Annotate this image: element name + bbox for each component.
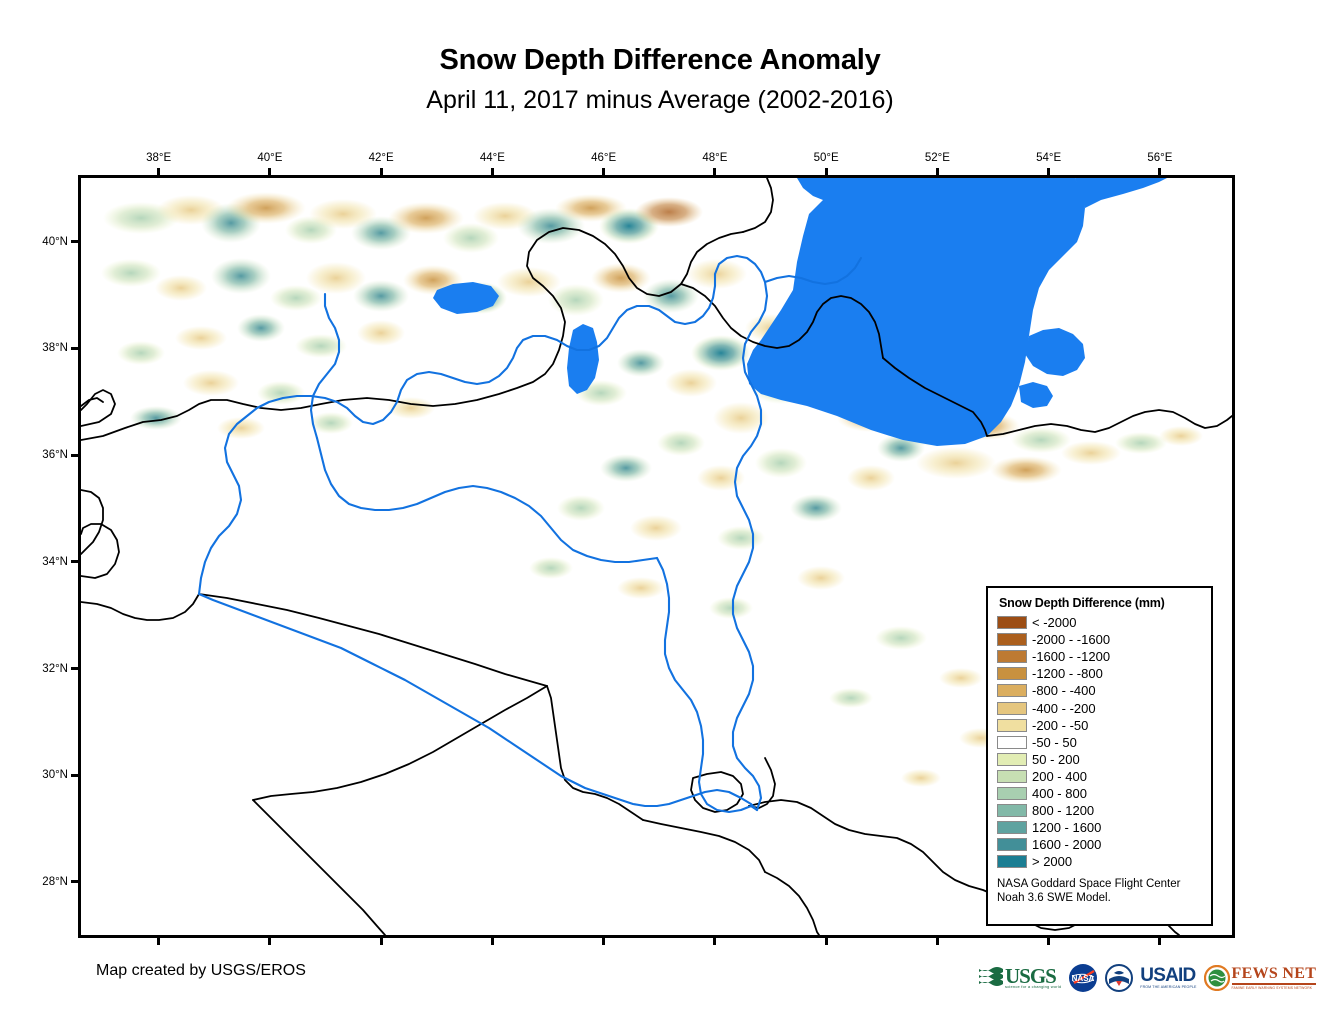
legend-swatch xyxy=(997,650,1027,663)
legend-swatch xyxy=(997,838,1027,851)
legend-swatch xyxy=(997,736,1027,749)
legend-row[interactable]: -1600 - -1200 xyxy=(997,648,1202,665)
legend-label: < -2000 xyxy=(1032,616,1076,629)
legend-swatch xyxy=(997,855,1027,868)
legend-swatch xyxy=(997,821,1027,834)
legend-row[interactable]: -400 - -200 xyxy=(997,699,1202,716)
legend-label: -2000 - -1600 xyxy=(1032,633,1110,646)
legend-label: > 2000 xyxy=(1032,855,1072,868)
legend-label: 800 - 1200 xyxy=(1032,804,1094,817)
legend-label: 400 - 800 xyxy=(1032,787,1087,800)
lon-tick-mark xyxy=(1047,168,1050,175)
lon-tick-mark xyxy=(825,168,828,175)
lon-tick-mark xyxy=(602,938,605,945)
lon-tick-mark xyxy=(1158,938,1161,945)
lon-tick-mark xyxy=(602,168,605,175)
legend-label: -800 - -400 xyxy=(1032,684,1096,697)
legend-row[interactable]: > 2000 xyxy=(997,853,1202,870)
fewsnet-tagline: FAMINE EARLY WARNING SYSTEMS NETWORK xyxy=(1232,986,1317,990)
usaid-wordmark: USAID xyxy=(1140,967,1196,985)
noaa-seal-icon xyxy=(1105,964,1133,992)
lat-tick-mark xyxy=(71,667,78,670)
lon-tick-label: 56°E xyxy=(1147,152,1172,164)
lon-tick-label: 42°E xyxy=(369,152,394,164)
legend-row[interactable]: 200 - 400 xyxy=(997,768,1202,785)
lon-tick-label: 48°E xyxy=(702,152,727,164)
legend-label: -50 - 50 xyxy=(1032,736,1077,749)
lat-tick-mark xyxy=(71,880,78,883)
usaid-logo[interactable]: USAID FROM THE AMERICAN PEOPLE xyxy=(1140,961,1196,995)
legend-source-line: Noah 3.6 SWE Model. xyxy=(997,891,1202,905)
lon-tick-label: 38°E xyxy=(146,152,171,164)
lat-tick-label: 30°N xyxy=(30,769,68,781)
legend-label: 1200 - 1600 xyxy=(1032,821,1101,834)
lon-tick-mark xyxy=(1047,938,1050,945)
lon-tick-mark xyxy=(380,938,383,945)
lon-tick-mark xyxy=(380,168,383,175)
lat-tick-label: 34°N xyxy=(30,556,68,568)
legend-row[interactable]: 1600 - 2000 xyxy=(997,836,1202,853)
lon-tick-mark xyxy=(491,168,494,175)
logo-strip: USGS science for a changing world NASA xyxy=(978,958,1316,998)
nasa-logo[interactable]: NASA xyxy=(1068,961,1098,995)
legend-swatch xyxy=(997,702,1027,715)
page-subtitle: April 11, 2017 minus Average (2002-2016) xyxy=(0,86,1320,115)
legend-swatch xyxy=(997,719,1027,732)
usgs-tagline: science for a changing world xyxy=(1005,985,1061,989)
lat-tick-label: 36°N xyxy=(30,449,68,461)
legend-class-list: < -2000-2000 - -1600-1600 - -1200-1200 -… xyxy=(997,614,1202,870)
legend-row[interactable]: 800 - 1200 xyxy=(997,802,1202,819)
legend-swatch xyxy=(997,684,1027,697)
legend-row[interactable]: -800 - -400 xyxy=(997,682,1202,699)
legend-label: -400 - -200 xyxy=(1032,702,1096,715)
legend-swatch xyxy=(997,787,1027,800)
fewsnet-globe-icon xyxy=(1204,965,1230,991)
lon-tick-mark xyxy=(268,168,271,175)
legend-label: 50 - 200 xyxy=(1032,753,1080,766)
usgs-wordmark: USGS xyxy=(1005,967,1061,986)
lat-tick-label: 38°N xyxy=(30,342,68,354)
legend-swatch xyxy=(997,770,1027,783)
legend-label: -200 - -50 xyxy=(1032,719,1088,732)
usaid-tagline: FROM THE AMERICAN PEOPLE xyxy=(1140,985,1196,989)
legend-label: -1600 - -1200 xyxy=(1032,650,1110,663)
lon-tick-label: 44°E xyxy=(480,152,505,164)
legend-row[interactable]: -200 - -50 xyxy=(997,717,1202,734)
noaa-logo[interactable] xyxy=(1105,961,1133,995)
lat-tick-label: 32°N xyxy=(30,663,68,675)
legend-label: 1600 - 2000 xyxy=(1032,838,1101,851)
usgs-wave-icon xyxy=(978,965,1004,991)
legend-swatch xyxy=(997,804,1027,817)
lon-tick-mark xyxy=(936,168,939,175)
lon-tick-label: 54°E xyxy=(1036,152,1061,164)
legend-source-note: NASA Goddard Space Flight CenterNoah 3.6… xyxy=(997,877,1202,905)
legend-label: 200 - 400 xyxy=(1032,770,1087,783)
legend-swatch xyxy=(997,616,1027,629)
legend-row[interactable]: < -2000 xyxy=(997,614,1202,631)
lon-tick-mark xyxy=(1158,168,1161,175)
page-title: Snow Depth Difference Anomaly xyxy=(0,44,1320,77)
lat-tick-mark xyxy=(71,774,78,777)
legend-label: -1200 - -800 xyxy=(1032,667,1103,680)
lat-tick-label: 40°N xyxy=(30,236,68,248)
lon-tick-mark xyxy=(713,168,716,175)
lon-tick-label: 46°E xyxy=(591,152,616,164)
legend-row[interactable]: -1200 - -800 xyxy=(997,665,1202,682)
fewsnet-wordmark: FEWS NET xyxy=(1232,966,1317,982)
fewsnet-rule xyxy=(1232,983,1317,984)
lon-tick-mark xyxy=(491,938,494,945)
legend-title: Snow Depth Difference (mm) xyxy=(999,596,1202,610)
footer-credit: Map created by USGS/EROS xyxy=(96,962,306,980)
legend-swatch xyxy=(997,667,1027,680)
nasa-meatball-icon: NASA xyxy=(1068,963,1098,993)
lon-tick-mark xyxy=(825,938,828,945)
lon-tick-mark xyxy=(268,938,271,945)
legend-swatch xyxy=(997,633,1027,646)
svg-text:NASA: NASA xyxy=(1072,974,1095,983)
lon-tick-label: 40°E xyxy=(257,152,282,164)
legend-row[interactable]: 1200 - 1600 xyxy=(997,819,1202,836)
lon-tick-mark xyxy=(157,168,160,175)
lon-tick-label: 52°E xyxy=(925,152,950,164)
lon-tick-mark xyxy=(713,938,716,945)
lon-tick-mark xyxy=(936,938,939,945)
legend-row[interactable]: -2000 - -1600 xyxy=(997,631,1202,648)
lat-tick-mark xyxy=(71,347,78,350)
lat-tick-mark xyxy=(71,454,78,457)
legend-row[interactable]: -50 - 50 xyxy=(997,734,1202,751)
legend-row[interactable]: 50 - 200 xyxy=(997,751,1202,768)
lon-tick-mark xyxy=(157,938,160,945)
legend-source-line: NASA Goddard Space Flight Center xyxy=(997,877,1202,891)
lat-tick-mark xyxy=(71,560,78,563)
usgs-logo[interactable]: USGS science for a changing world xyxy=(978,961,1061,995)
lon-tick-label: 50°E xyxy=(814,152,839,164)
fewsnet-logo[interactable]: FEWS NET FAMINE EARLY WARNING SYSTEMS NE… xyxy=(1204,961,1317,995)
legend-row[interactable]: 400 - 800 xyxy=(997,785,1202,802)
legend[interactable]: Snow Depth Difference (mm) < -2000-2000 … xyxy=(986,586,1213,926)
lat-tick-label: 28°N xyxy=(30,876,68,888)
legend-swatch xyxy=(997,753,1027,766)
lat-tick-mark xyxy=(71,240,78,243)
map-page: Snow Depth Difference Anomaly April 11, … xyxy=(0,0,1320,1020)
